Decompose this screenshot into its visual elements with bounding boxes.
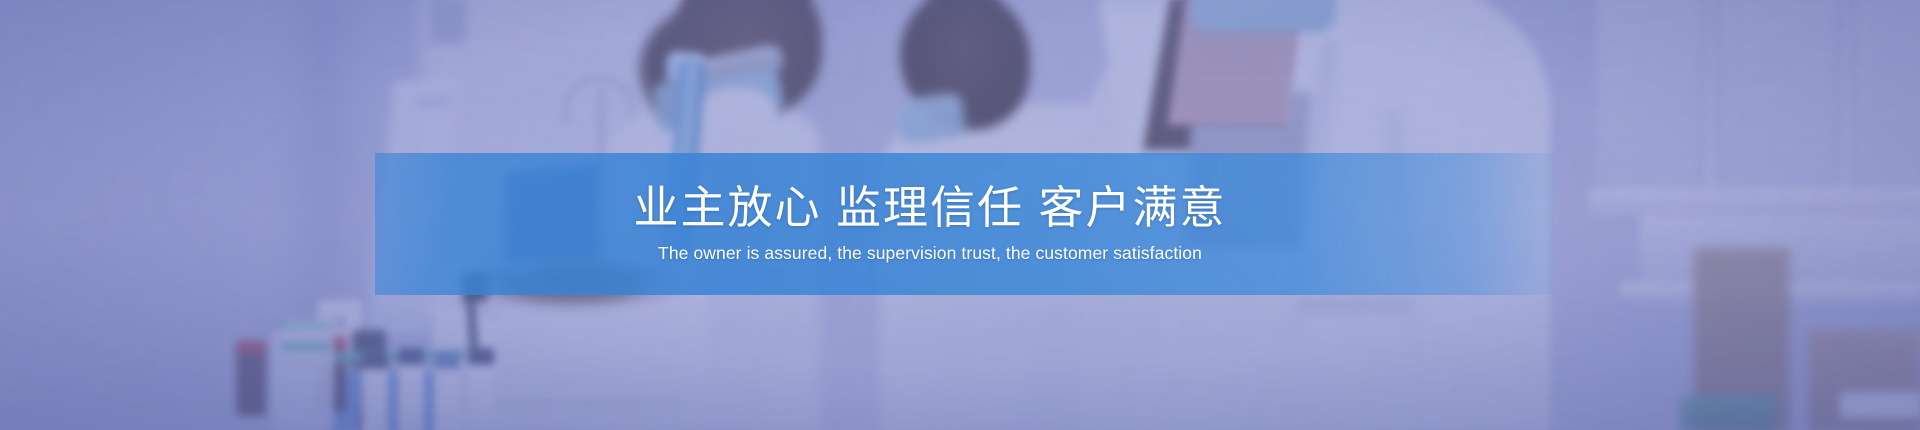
slogan-band-content: 业主放心 监理信任 客户满意 The owner is assured, the…: [375, 153, 1555, 295]
slogan-band: 业主放心 监理信任 客户满意 The owner is assured, the…: [375, 153, 1555, 295]
banner-headline: 业主放心 监理信任 客户满意: [633, 183, 1226, 233]
banner-subtitle: The owner is assured, the supervision tr…: [658, 242, 1202, 265]
hero-banner: 业主放心 监理信任 客户满意 The owner is assured, the…: [0, 0, 1920, 430]
